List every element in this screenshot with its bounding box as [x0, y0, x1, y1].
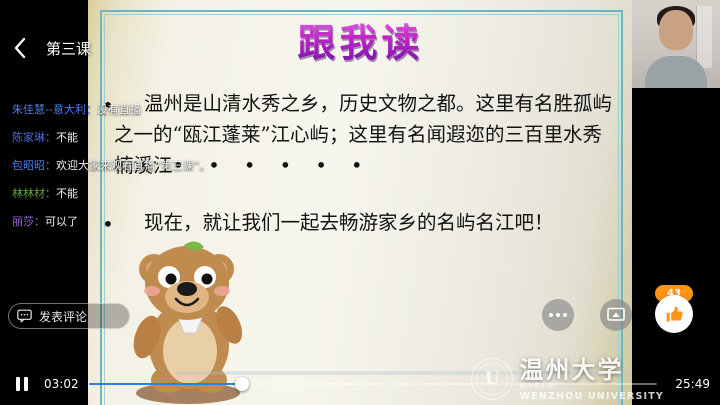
pause-icon: [16, 377, 28, 391]
bullet-icon: •: [102, 209, 114, 240]
more-horizontal-icon: [549, 313, 567, 317]
slide-stage: 跟我读 • 温州是山清水秀之乡，历史文物之都。这里有名胜孤屿之一的“瓯江蓬莱”江…: [88, 0, 633, 405]
seek-knob[interactable]: [235, 377, 249, 391]
slide-title: 跟我读: [88, 12, 633, 67]
duration: 25:49: [675, 377, 710, 391]
cast-screen-icon: [607, 307, 625, 323]
seek-bar[interactable]: [89, 375, 658, 393]
seek-fill: [89, 383, 243, 385]
right-rail: [632, 88, 720, 405]
teacher-webcam[interactable]: [632, 0, 720, 88]
back-button[interactable]: [0, 30, 40, 66]
comment-bubble-icon: [17, 309, 32, 323]
page-title: 第三课: [46, 38, 91, 59]
comment-input[interactable]: 发表评论: [8, 303, 130, 329]
top-bar: 第三课: [0, 30, 91, 66]
live-class-player: 跟我读 • 温州是山清水秀之乡，历史文物之都。这里有名胜孤屿之一的“瓯江蓬莱”江…: [0, 0, 720, 405]
like-button[interactable]: 43: [650, 285, 698, 341]
thumbs-up-icon: [664, 304, 685, 325]
slide-paragraph: • 现在，就让我们一起去畅游家乡的名屿名江吧！: [114, 207, 613, 238]
webcam-door: [696, 6, 712, 68]
webcam-head: [659, 10, 693, 50]
slide-paragraph-text: 现在，就让我们一起去畅游家乡的名屿名江吧！: [144, 211, 554, 234]
player-bar: 03:02 25:49: [0, 363, 720, 405]
pause-button[interactable]: [10, 372, 34, 396]
current-time: 03:02: [44, 377, 79, 391]
slide-body: • 温州是山清水秀之乡，历史文物之都。这里有名胜孤屿之一的“瓯江蓬莱”江心屿；这…: [114, 88, 613, 246]
slide-trailing-dots: • • • • • •: [173, 154, 372, 177]
chevron-left-icon: [12, 36, 28, 60]
like-circle: [655, 295, 693, 333]
slide-paragraph: • 温州是山清水秀之乡，历史文物之都。这里有名胜孤屿之一的“瓯江蓬莱”江心屿；这…: [114, 88, 613, 181]
more-options-button[interactable]: [542, 299, 574, 331]
comment-placeholder: 发表评论: [39, 308, 87, 325]
bullet-icon: •: [102, 90, 114, 121]
cast-button[interactable]: [600, 299, 632, 331]
